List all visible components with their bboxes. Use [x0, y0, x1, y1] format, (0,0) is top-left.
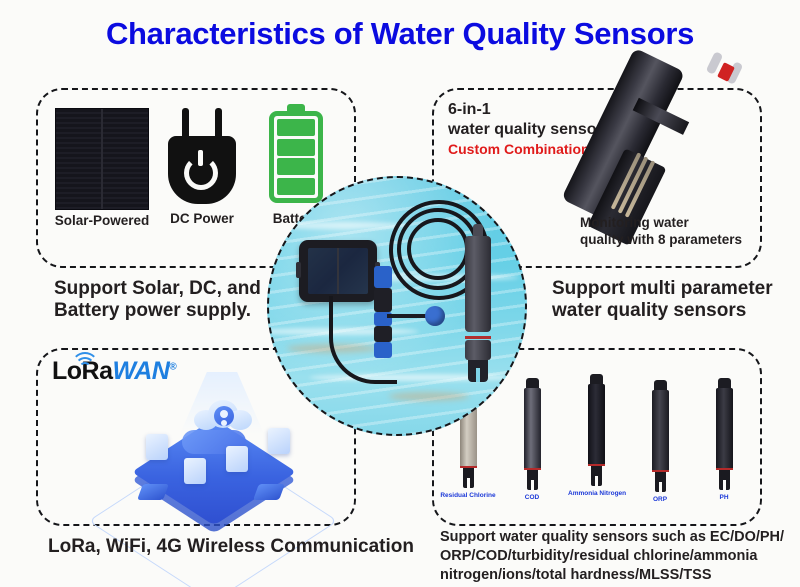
iso-card	[184, 458, 206, 484]
probe-barrel	[465, 236, 491, 332]
center-water-scene-image	[267, 176, 527, 436]
water-wave	[267, 222, 409, 229]
page-title: Characteristics of Water Quality Sensors	[0, 16, 800, 52]
multi-parameter-heading: 6-in-1 water quality sensor Custom Combi…	[448, 100, 603, 158]
probe-item-ph: PH	[696, 378, 752, 501]
battery-segment	[277, 178, 315, 195]
inline-sensor-probe	[374, 266, 392, 358]
dc-power-item: DC Power	[152, 108, 252, 226]
caption-power-line2: Battery power supply.	[54, 300, 261, 322]
probe-red-band	[465, 336, 491, 339]
lorawan-signal-waves-icon	[70, 352, 96, 386]
probe-tip	[655, 472, 666, 492]
six-in-one-sensor-image	[598, 58, 768, 233]
iso-card	[268, 428, 290, 454]
battery-icon	[269, 104, 323, 208]
battery-segment	[277, 139, 315, 156]
user-avatar-icon	[214, 406, 234, 426]
solar-mount-tab	[296, 262, 301, 278]
caption-multi-line1: Support multi parameter	[552, 278, 773, 300]
caption-power-supply: Support Solar, DC, and Battery power sup…	[54, 278, 261, 323]
infographic-page: Characteristics of Water Quality Sensors…	[0, 0, 800, 587]
probe-lower-barrel	[465, 340, 491, 360]
probe-label: ORP	[632, 496, 688, 503]
monitoring-note: Monitoring water quality with 8 paramete…	[580, 215, 742, 249]
solar-panel-icon	[55, 108, 149, 210]
power-symbol-stem	[198, 150, 203, 166]
battery-segment	[277, 158, 315, 175]
probe-tip	[463, 468, 474, 488]
probe-label: COD	[504, 494, 560, 501]
probe-tip	[719, 470, 730, 490]
probe-label: Ammonia Nitrogen	[568, 490, 624, 497]
caption-multi-line2: water quality sensors	[552, 300, 773, 322]
cable-loop	[407, 218, 469, 280]
battery-segment	[277, 119, 315, 136]
iso-card	[146, 434, 168, 460]
monitoring-note-line1: Monitoring water	[580, 215, 742, 232]
probe-image	[716, 378, 733, 490]
custom-combination-label: Custom Combination	[448, 141, 603, 158]
probe-label: Residual Chlorine	[440, 492, 496, 499]
probe-item-cod: COD	[504, 378, 560, 501]
water-sand-streak	[389, 392, 469, 401]
battery-body	[269, 111, 323, 203]
probe-sensor-ball	[425, 306, 445, 326]
solar-power-item: Solar-Powered	[52, 108, 152, 228]
probe-tip	[468, 360, 488, 382]
probe-body	[716, 388, 733, 470]
dc-plug-icon	[165, 108, 239, 208]
iso-card	[226, 446, 248, 472]
iot-platform-illustration	[128, 372, 314, 514]
water-quality-probe	[465, 236, 491, 384]
multi-heading-line1: 6-in-1	[448, 100, 603, 120]
probe-blue-ring	[374, 342, 392, 358]
caption-sensor-types: Support water quality sensors such as EC…	[440, 528, 784, 585]
monitoring-note-line2: quality with 8 parameters	[580, 232, 742, 249]
probe-blue-ring	[374, 266, 392, 288]
probe-image	[588, 374, 605, 486]
probe-body	[652, 390, 669, 472]
probe-label: PH	[696, 494, 752, 501]
probe-tip	[527, 470, 538, 490]
probe-item-orp: ORP	[632, 380, 688, 503]
probe-image	[524, 378, 541, 490]
probe-item-ammonia-nitrogen: Ammonia Nitrogen	[568, 374, 624, 497]
probe-body	[588, 384, 605, 466]
probe-tip	[591, 466, 602, 486]
caption-sensors-line2: ORP/COD/turbidity/residual chlorine/ammo…	[440, 547, 784, 566]
probe-body	[524, 388, 541, 470]
probe-image	[652, 380, 669, 492]
caption-sensors-line1: Support water quality sensors such as EC…	[440, 528, 784, 547]
cloud-icon	[194, 398, 252, 432]
multi-heading-line2: water quality sensor	[448, 120, 603, 140]
dc-power-label: DC Power	[152, 211, 252, 226]
signal-arc	[71, 352, 99, 380]
caption-sensors-line3: nitrogen/ions/total hardness/MLSS/TSS	[440, 566, 784, 585]
solar-power-label: Solar-Powered	[52, 213, 152, 228]
caption-power-line1: Support Solar, DC, and	[54, 278, 261, 300]
caption-wireless: LoRa, WiFi, 4G Wireless Communication	[48, 536, 414, 558]
floating-solar-panel	[299, 240, 377, 302]
probe-dark-segment	[374, 326, 392, 342]
caption-multi-parameter: Support multi parameter water quality se…	[552, 278, 773, 323]
probe-dark-segment	[374, 288, 392, 312]
